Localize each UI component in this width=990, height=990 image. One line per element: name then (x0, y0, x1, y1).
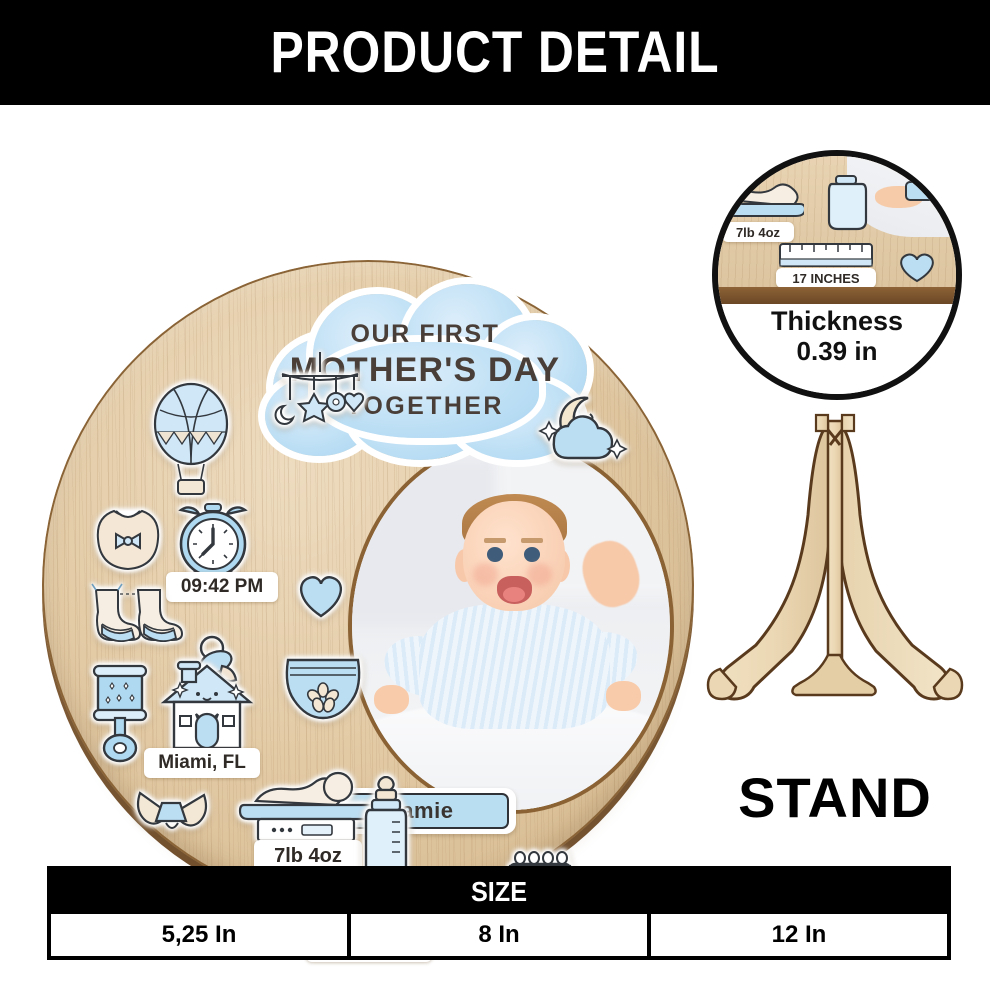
stand-illustration (700, 405, 970, 765)
baby-mobile-sticker (268, 350, 372, 450)
page-title: PRODUCT DETAIL (69, 0, 920, 105)
thickness-label: Thickness (718, 306, 956, 337)
photo-opening (352, 442, 670, 810)
size-option-0[interactable]: 5,25 In (51, 914, 347, 956)
size-table: SIZE 5,25 In 8 In 12 In (47, 866, 951, 960)
round-photo-frame: Jamie OUR FIRST MOTHER'S DAY TOGETHER (40, 260, 700, 920)
bib-sticker (92, 503, 164, 573)
house-sticker (156, 658, 258, 754)
baby-scale-sticker (236, 765, 376, 849)
hot-air-balloon-sticker (148, 380, 234, 496)
thickness-value: 0.39 in (718, 337, 956, 367)
moon-cloud-sticker (532, 388, 634, 478)
thickness-zoom-photo: 7lb 4oz 17 INCHES (718, 156, 956, 292)
product-stage: Jamie OUR FIRST MOTHER'S DAY TOGETHER (0, 105, 990, 850)
size-options-row: 5,25 In 8 In 12 In (51, 914, 947, 956)
size-option-2[interactable]: 12 In (651, 914, 947, 956)
diaper-sticker (280, 650, 366, 722)
thickness-caption: Thickness 0.39 in (718, 306, 956, 367)
heart-sticker (293, 570, 349, 620)
baby-photo (352, 442, 670, 810)
header-banner: PRODUCT DETAIL (0, 0, 990, 105)
thickness-inset-weight: 7lb 4oz (722, 222, 794, 242)
stand-label: STAND (700, 765, 970, 830)
baby-socks-sticker (86, 580, 188, 642)
cloud-title-line1: OUR FIRST (350, 320, 499, 349)
size-option-1[interactable]: 8 In (351, 914, 647, 956)
size-table-header: SIZE (96, 870, 902, 914)
bow-sticker (132, 785, 210, 847)
thickness-inset-length: 17 INCHES (776, 268, 876, 288)
thickness-edge-band (718, 287, 956, 304)
thickness-detail-circle: 7lb 4oz 17 INCHES Thickness 0.39 in (712, 150, 962, 400)
